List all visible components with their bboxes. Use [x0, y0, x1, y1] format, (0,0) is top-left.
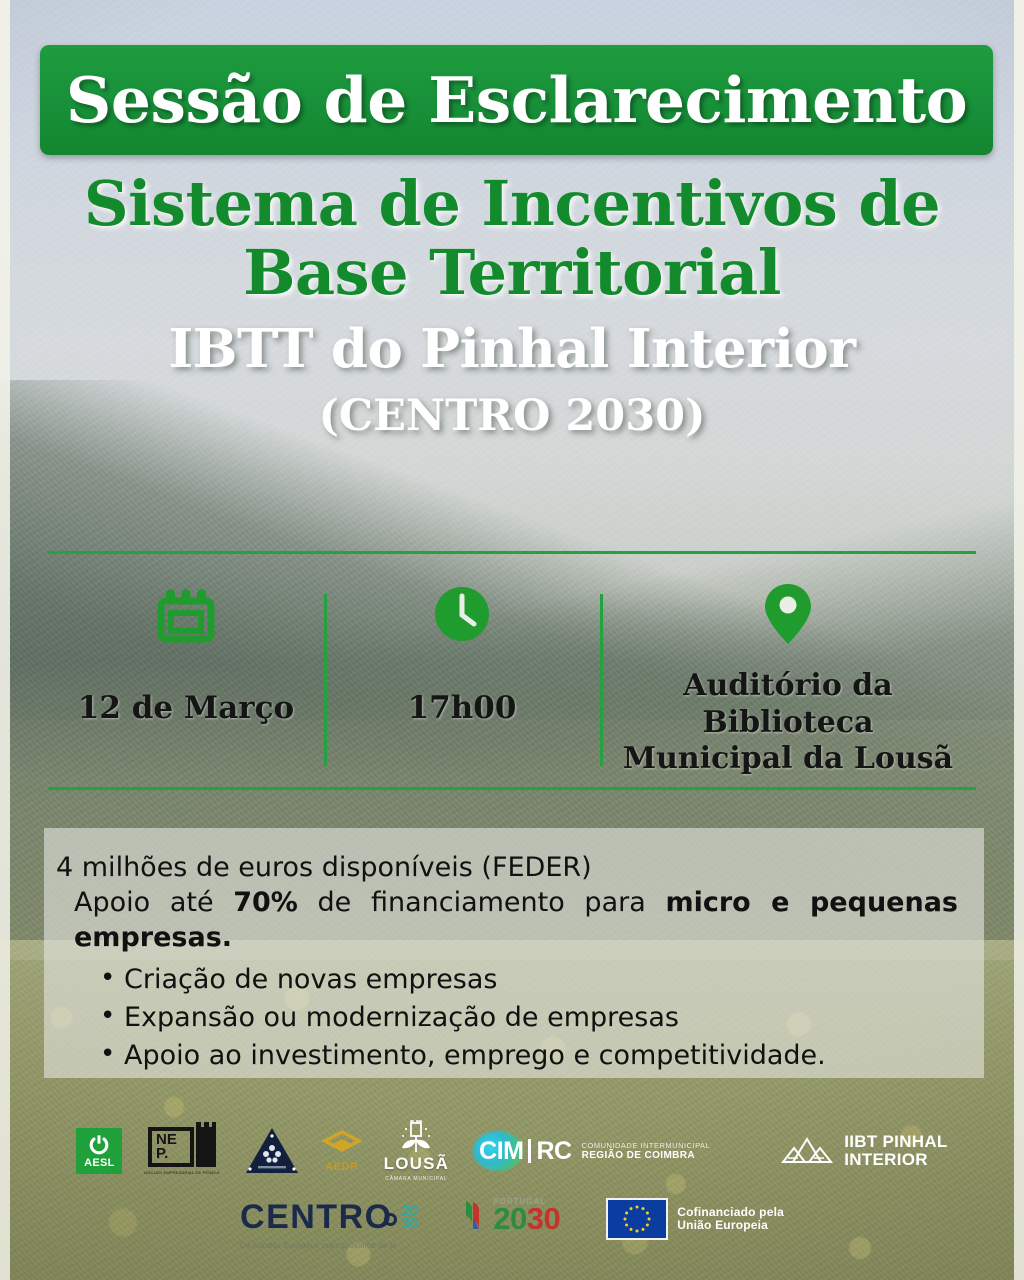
- event-poster: Sessão de Esclarecimento Sistema de Ince…: [0, 0, 1024, 1280]
- list-item: Apoio ao investimento, emprego e competi…: [100, 1037, 958, 1075]
- details-support-a: Apoio até: [74, 887, 233, 918]
- rc-logo-word: RC: [536, 1137, 571, 1166]
- centro-2030-logo: CENTRO 20 30 Os Fundos Europeus mais pró…: [240, 1198, 417, 1250]
- lousa-emblem-icon: [394, 1120, 438, 1154]
- location-pin-icon: [762, 576, 814, 652]
- info-time-label: 17h00: [408, 690, 517, 728]
- centro-dot-icon: [384, 1213, 397, 1226]
- aedp-mark-icon: [322, 1130, 362, 1160]
- list-item: Criação de novas empresas: [100, 961, 958, 999]
- cim-logo-sub-2: REGIÃO DE COIMBRA: [582, 1150, 711, 1161]
- aesl-logo: AESL: [76, 1128, 122, 1174]
- cim-logo-word: CIM: [479, 1137, 523, 1166]
- info-place-line-2: Biblioteca: [623, 705, 953, 742]
- european-union-logo: Cofinanciado pela União Europeia: [606, 1198, 784, 1240]
- cim-logo-sub-1: COMUNIDADE INTERMUNICIPAL: [582, 1141, 711, 1150]
- lousa-logo: LOUSÃ CÂMARA MUNICIPAL: [384, 1120, 450, 1182]
- eu-logo-line-2: União Europeia: [677, 1219, 784, 1232]
- iibt-pinhal-interior-logo: IIBT PINHAL INTERIOR: [780, 1133, 947, 1169]
- calendar-icon: [155, 576, 217, 652]
- nep-logo: NE P. NÚCLEO EMPRESARIAL DE PENELA: [144, 1127, 219, 1175]
- iibt-logo-line-2: INTERIOR: [844, 1151, 947, 1169]
- headline-line-2: Base Territorial: [0, 241, 1024, 304]
- cim-divider: [528, 1139, 531, 1163]
- headline-programme: (CENTRO 2030): [0, 394, 1024, 439]
- eu-logo-line-1: Cofinanciado pela: [677, 1206, 784, 1219]
- centro-logo-word: CENTRO: [240, 1198, 393, 1237]
- event-info-strip: 12 de Março 17h00: [48, 560, 976, 785]
- triangle-association-logo: [244, 1126, 300, 1176]
- list-item: Expansão ou modernização de empresas: [100, 999, 958, 1037]
- details-funding-line: 4 milhões de euros disponíveis (FEDER): [56, 850, 958, 885]
- aesl-logo-text: AESL: [84, 1157, 115, 1169]
- details-support-c: de financiamento para: [298, 887, 666, 918]
- funding-logo-row: CENTRO 20 30 Os Fundos Europeus mais pró…: [0, 1198, 1024, 1260]
- partner-logo-row: AESL NE P. NÚCLEO EMPRESARIAL DE PENELA: [0, 1112, 1024, 1190]
- headline-line-1: Sistema de Incentivos de: [84, 167, 940, 240]
- aedp-logo-text: AEDP: [325, 1161, 358, 1173]
- nep-logo-line-2: P.: [156, 1147, 190, 1161]
- nep-logo-tagline: NÚCLEO EMPRESARIAL DE PENELA: [144, 1170, 219, 1175]
- headline-subtitle: IBTT do Pinhal Interior: [0, 322, 1024, 378]
- poster-frame-right: [1014, 0, 1024, 1280]
- portugal-2030-logo: PORTUGAL 2030: [463, 1198, 560, 1234]
- cim-rc-logo: CIM RC COMUNIDADE INTERMUNICIPAL REGIÃO …: [479, 1137, 710, 1166]
- info-place: Auditório da Biblioteca Municipal da Lou…: [600, 560, 976, 778]
- details-support-line: Apoio até 70% de financiamento para micr…: [56, 885, 958, 955]
- details-support-percent: 70%: [233, 887, 298, 918]
- portugal-flag-icon: [463, 1198, 489, 1232]
- centro-year-bottom: 30: [402, 1218, 418, 1231]
- castle-tower-icon: [196, 1127, 216, 1167]
- portugal-year-red: 30: [527, 1201, 560, 1236]
- info-time: 17h00: [324, 560, 600, 728]
- divider-bottom: [48, 787, 976, 790]
- lousa-logo-tagline: CÂMARA MUNICIPAL: [385, 1176, 447, 1182]
- eu-flag-icon: [606, 1198, 668, 1240]
- power-icon: [88, 1134, 110, 1156]
- info-date-label: 12 de Março: [78, 690, 294, 728]
- divider-top: [48, 551, 976, 554]
- mountains-icon: [780, 1134, 834, 1168]
- centro-logo-tagline: Os Fundos Europeus mais próximos de si.: [240, 1241, 417, 1250]
- info-place-label: Auditório da Biblioteca Municipal da Lou…: [623, 668, 953, 778]
- info-place-line-1: Auditório da: [623, 668, 953, 705]
- lousa-logo-text: LOUSÃ: [384, 1154, 450, 1174]
- aedp-logo: AEDP: [322, 1130, 362, 1173]
- banner: Sessão de Esclarecimento: [40, 45, 993, 155]
- poster-frame-left: [0, 0, 10, 1280]
- portugal-year-green: 20: [493, 1201, 526, 1236]
- info-place-line-3: Municipal da Lousã: [623, 741, 953, 778]
- iibt-logo-line-1: IIBT PINHAL: [844, 1133, 947, 1151]
- headline-primary: Sistema de Incentivos de Base Territoria…: [0, 172, 1024, 304]
- details-panel: 4 milhões de euros disponíveis (FEDER) A…: [44, 828, 984, 1078]
- details-bullet-list: Criação de novas empresas Expansão ou mo…: [56, 961, 958, 1074]
- banner-title: Sessão de Esclarecimento: [66, 63, 967, 137]
- info-date: 12 de Março: [48, 560, 324, 728]
- headline-block: Sistema de Incentivos de Base Territoria…: [0, 172, 1024, 439]
- clock-icon: [432, 576, 492, 652]
